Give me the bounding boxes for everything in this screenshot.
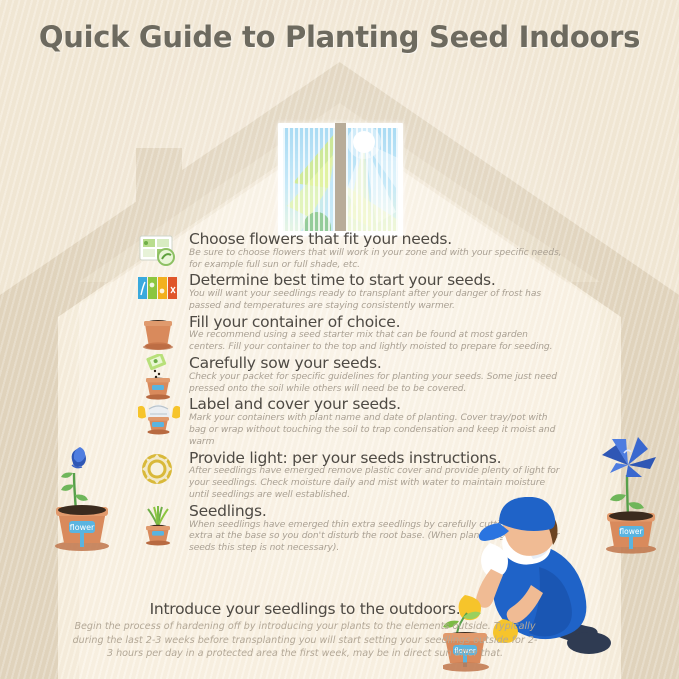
seed-packets-icon: [136, 271, 182, 317]
step-body: Check your packet for specific guideline…: [189, 372, 566, 396]
sowing-seeds-icon: [136, 354, 182, 400]
pot-label-text: flower: [70, 523, 95, 532]
step-body: We recommend using a seed starter mix th…: [189, 330, 566, 354]
page-title: Quick Guide to Planting Seed Indoors: [0, 20, 679, 54]
seed-catalog-icon: [136, 230, 182, 276]
sunny-window-illustration: [278, 123, 403, 236]
step-heading: Provide light: per your seeds instructio…: [189, 450, 566, 467]
list-item: Determine best time to start your seeds.…: [136, 272, 566, 312]
step-body: Be sure to choose flowers that will work…: [189, 248, 566, 272]
list-item: Label and cover your seeds. Mark your co…: [136, 396, 566, 448]
step-body: You will want your seedlings ready to tr…: [189, 289, 566, 313]
potted-blue-flower-left: flower: [36, 415, 128, 555]
seedlings-pot-icon: [136, 502, 182, 548]
step-body: Mark your containers with plant name and…: [189, 413, 566, 448]
footer-section: Introduce your seedlings to the outdoors…: [70, 600, 540, 661]
list-item: Carefully sow your seeds. Check your pac…: [136, 355, 566, 395]
empty-pot-icon: [136, 313, 182, 359]
sun-light-icon: [136, 449, 182, 495]
step-heading: Fill your container of choice.: [189, 314, 566, 331]
infographic-canvas: Quick Guide to Planting Seed Indoors Cho…: [0, 0, 679, 679]
list-item: Choose flowers that fit your needs. Be s…: [136, 231, 566, 271]
list-item: Provide light: per your seeds instructio…: [136, 450, 566, 502]
footer-body: Begin the process of hardening off by in…: [70, 620, 540, 661]
step-heading: Label and cover your seeds.: [189, 396, 566, 413]
footer-heading: Introduce your seedlings to the outdoors…: [70, 600, 540, 618]
covered-pot-gloves-icon: [136, 395, 182, 441]
step-heading: Determine best time to start your seeds.: [189, 272, 566, 289]
step-heading: Choose flowers that fit your needs.: [189, 231, 566, 248]
step-heading: Carefully sow your seeds.: [189, 355, 566, 372]
list-item: Fill your container of choice. We recomm…: [136, 314, 566, 354]
